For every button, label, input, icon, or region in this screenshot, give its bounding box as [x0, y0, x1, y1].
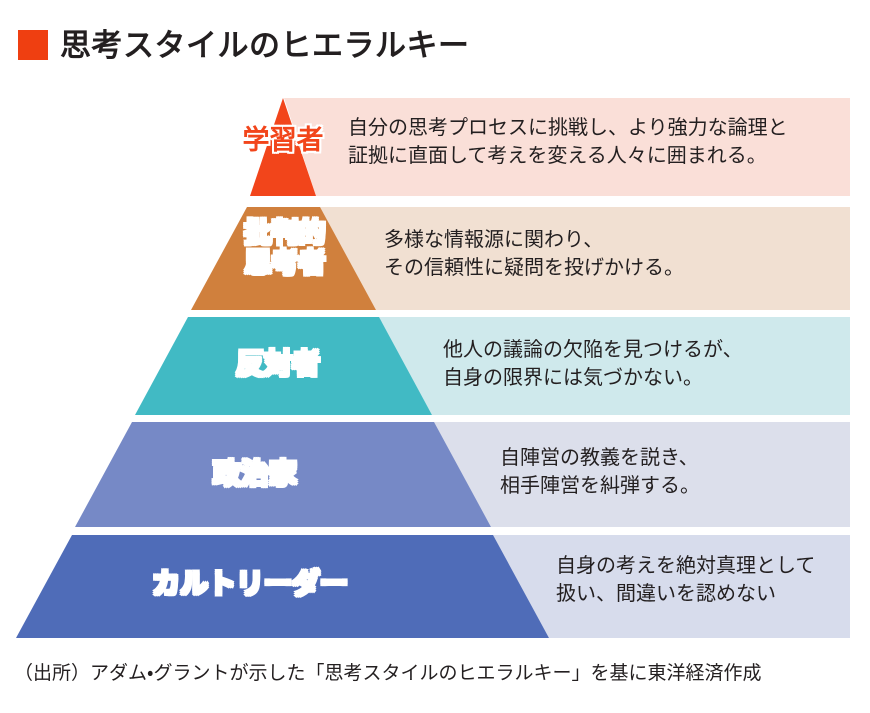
pyramid-tier-5-description: 自身の考えを絶対真理として 扱い、間違いを認めない — [556, 553, 856, 608]
source-note: （出所）アダム・グラントが示した「思考スタイルのヒエラルキー」を基に東洋経済作成 — [14, 662, 864, 687]
pyramid-tier-4-description: 自陣営の教義を説き、 相手陣営を糾弾する。 — [500, 445, 845, 500]
red-square-marker-icon — [18, 30, 48, 60]
pyramid-chart: 学習者 批判的 思考者 反対者 政治家 カルトリーダー 自分の思考プロセスに挑戦… — [0, 90, 870, 650]
pyramid-tier-1-description: 自分の思考プロセスに挑戦し、より強力な論理と 証拠に直面して考えを変える人々に囲… — [348, 115, 848, 170]
page-title: 思考スタイルのヒエラルキー — [60, 30, 470, 61]
pyramid-tier-5[interactable] — [16, 535, 549, 638]
pyramid-tier-2-description: 多様な情報源に関わり、 その信頼性に疑問を投げかける。 — [384, 227, 844, 282]
source-divider — [0, 652, 870, 653]
page-title-bar: 思考スタイルのヒエラルキー — [0, 0, 870, 90]
pyramid-tier-4[interactable] — [75, 422, 491, 527]
pyramid-tier-3-description: 他人の議論の欠陥を見つけるが、 自身の限界には気づかない。 — [443, 337, 843, 392]
